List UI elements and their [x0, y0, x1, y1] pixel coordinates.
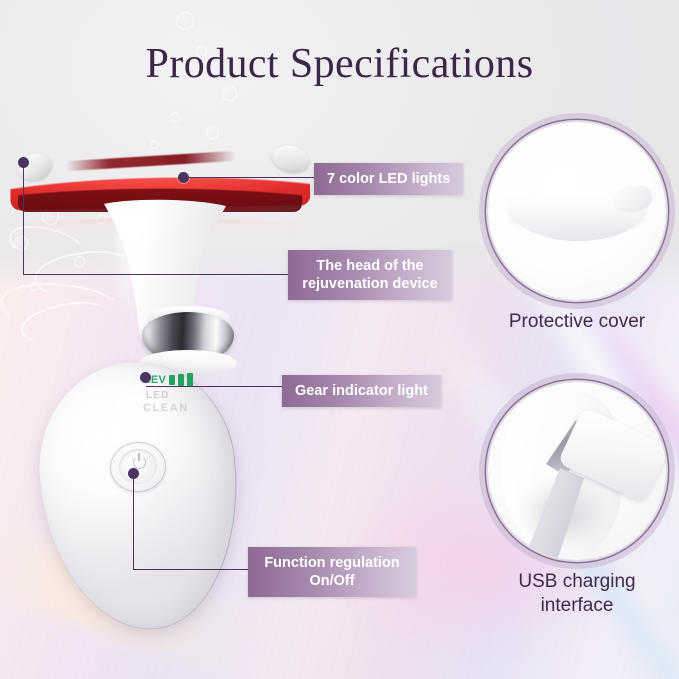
caption-protective-cover: Protective cover	[468, 310, 679, 334]
callout-function-regulation[interactable]: Function regulation On/Off	[248, 547, 416, 597]
device-illustration: LEV LED CLEAN	[0, 0, 340, 640]
callout-leader-line	[184, 177, 316, 178]
callout-leader-line	[146, 386, 284, 387]
caption-usb-charging: USB charging interface	[468, 570, 679, 618]
level-bar-3	[187, 373, 193, 387]
callout-dot-icon	[140, 372, 151, 383]
level-bar-2	[178, 374, 184, 386]
detail-circle-usb-charging	[488, 382, 666, 560]
gear-indicator-panel: LEV	[144, 373, 193, 387]
callout-leader-line	[133, 477, 134, 569]
callout-leader-line	[23, 274, 289, 275]
callout-leader-line	[23, 166, 24, 274]
device-body-highlight	[118, 212, 146, 322]
led-mode-label: LED	[146, 390, 170, 401]
callout-leader-line	[133, 569, 250, 570]
detail-circle-protective-cover	[488, 122, 666, 300]
power-icon	[133, 456, 146, 469]
product-specifications-infographic: Product Specifications LEV LED	[0, 0, 679, 679]
callout-gear-indicator[interactable]: Gear indicator light	[282, 375, 441, 407]
callout-device-head[interactable]: The head of the rejuvenation device	[288, 250, 452, 300]
clean-mode-label: CLEAN	[143, 402, 189, 414]
level-bar-1	[169, 375, 175, 385]
handle-edge	[31, 354, 250, 638]
callout-led-lights[interactable]: 7 color LED lights	[314, 163, 463, 195]
